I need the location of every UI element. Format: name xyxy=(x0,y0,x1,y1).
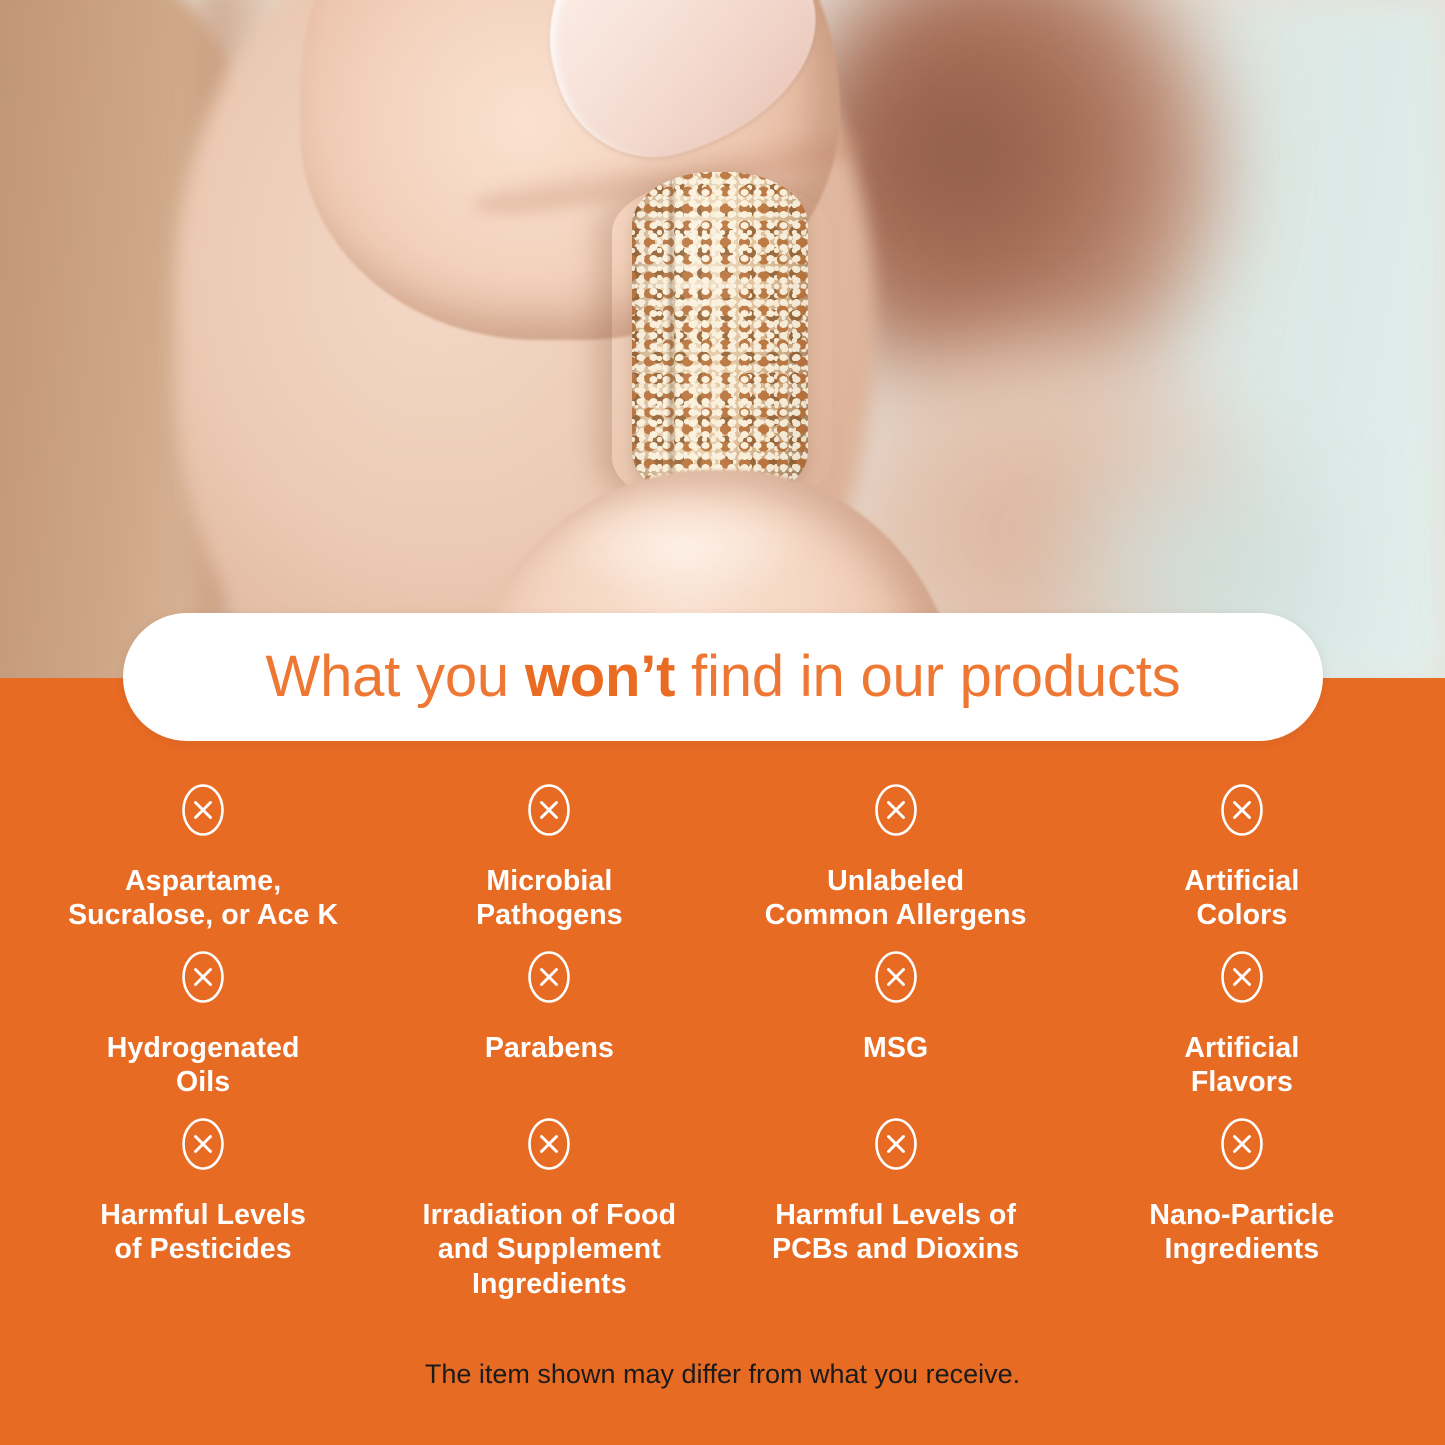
grid-item-label: Harmful Levels of PCBs and Dioxins xyxy=(772,1198,1019,1267)
grid-item-label: Nano-Particle Ingredients xyxy=(1149,1198,1334,1267)
circle-x-icon xyxy=(526,1116,572,1177)
grid-item: Harmful Levels of Pesticides xyxy=(30,1116,376,1283)
grid-item-label: Harmful Levels of Pesticides xyxy=(100,1198,306,1267)
grid-item: Hydrogenated Oils xyxy=(30,949,376,1116)
grid-item: Unlabeled Common Allergens xyxy=(723,782,1069,949)
grid-item-label: Microbial Pathogens xyxy=(476,864,623,933)
grid-item: Irradiation of Food and Supplement Ingre… xyxy=(376,1116,722,1283)
page-title-part1: What you xyxy=(266,644,525,709)
grid-item-label: Unlabeled Common Allergens xyxy=(765,864,1027,933)
supplement-tablet xyxy=(632,172,808,504)
title-pill: What you won’t find in our products xyxy=(123,613,1323,741)
circle-x-icon xyxy=(1219,949,1265,1010)
page-title-emphasis: won’t xyxy=(525,644,675,709)
grid-item-label: Artificial Flavors xyxy=(1184,1031,1299,1100)
hero-photo xyxy=(0,0,1445,690)
product-infographic: What you won’t find in our products Aspa… xyxy=(0,0,1445,1445)
grid-item: Microbial Pathogens xyxy=(376,782,722,949)
circle-x-icon xyxy=(180,949,226,1010)
circle-x-icon xyxy=(1219,782,1265,843)
circle-x-icon xyxy=(180,1116,226,1177)
grid-item: Harmful Levels of PCBs and Dioxins xyxy=(723,1116,1069,1283)
grid-item: MSG xyxy=(723,949,1069,1116)
grid-item: Artificial Flavors xyxy=(1069,949,1415,1116)
page-title-part2: find in our products xyxy=(675,644,1180,709)
circle-x-icon xyxy=(873,782,919,843)
circle-x-icon xyxy=(526,949,572,1010)
tablet-speckle-texture xyxy=(632,172,808,504)
excluded-ingredients-grid: Aspartame, Sucralose, or Ace K Microbial… xyxy=(30,782,1415,1283)
grid-item: Aspartame, Sucralose, or Ace K xyxy=(30,782,376,949)
grid-item-label: Hydrogenated Oils xyxy=(107,1031,300,1100)
grid-item-label: Irradiation of Food and Supplement Ingre… xyxy=(423,1198,677,1301)
grid-item: Nano-Particle Ingredients xyxy=(1069,1116,1415,1283)
grid-item-label: Aspartame, Sucralose, or Ace K xyxy=(68,864,338,933)
tablet-edge-seam xyxy=(666,175,676,501)
circle-x-icon xyxy=(873,1116,919,1177)
page-title: What you won’t find in our products xyxy=(266,648,1181,706)
disclaimer-text: The item shown may differ from what you … xyxy=(0,1358,1445,1390)
circle-x-icon xyxy=(1219,1116,1265,1177)
grid-item: Parabens xyxy=(376,949,722,1116)
circle-x-icon xyxy=(873,949,919,1010)
grid-item-label: Parabens xyxy=(485,1031,614,1065)
grid-item-label: MSG xyxy=(863,1031,928,1065)
circle-x-icon xyxy=(180,782,226,843)
index-finger-highlight xyxy=(560,492,810,602)
grid-item: Artificial Colors xyxy=(1069,782,1415,949)
grid-item-label: Artificial Colors xyxy=(1184,864,1299,933)
circle-x-icon xyxy=(526,782,572,843)
